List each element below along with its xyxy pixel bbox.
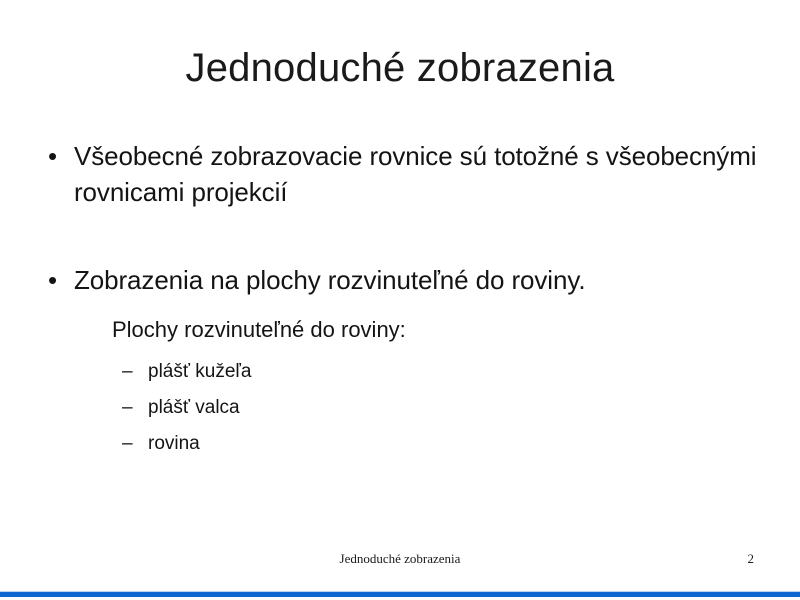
accent-rule xyxy=(0,592,800,597)
bullet-dot-icon: • xyxy=(48,262,57,298)
page-title: Jednoduché zobrazenia xyxy=(0,44,800,92)
footer-title: Jednoduché zobrazenia xyxy=(0,550,800,568)
bullet-dash-icon: – xyxy=(122,390,133,426)
list-item: • Zobrazenia na plochy rozvinuteľné do r… xyxy=(44,262,760,298)
list-item-label: Zobrazenia na plochy rozvinuteľné do rov… xyxy=(74,262,760,298)
list-item-label: plášť valca xyxy=(148,397,240,418)
list-item-label: Všeobecné zobrazovacie rovnice sú totožn… xyxy=(74,138,760,210)
bullet-dot-icon: • xyxy=(48,138,57,174)
slide: Jednoduché zobrazenia • Všeobecné zobraz… xyxy=(0,0,800,600)
slide-body: • Všeobecné zobrazovacie rovnice sú toto… xyxy=(44,138,760,462)
bullet-dash-icon: – xyxy=(122,426,133,462)
sub-list: – plášť kužeľa – plášť valca – rovina xyxy=(44,354,760,462)
list-item-label: plášť kužeľa xyxy=(148,361,252,382)
list-item: – plášť kužeľa xyxy=(122,354,760,390)
list-item-label: rovina xyxy=(148,433,200,454)
spacer xyxy=(44,210,760,262)
slide-footer: Jednoduché zobrazenia 2 xyxy=(0,550,800,568)
list-item: – plášť valca xyxy=(122,390,760,426)
list-item: – rovina xyxy=(122,426,760,462)
sub-heading: Plochy rozvinuteľné do roviny: xyxy=(44,314,760,346)
bullet-dash-icon: – xyxy=(122,354,133,390)
list-item: • Všeobecné zobrazovacie rovnice sú toto… xyxy=(44,138,760,210)
page-number: 2 xyxy=(748,550,755,568)
